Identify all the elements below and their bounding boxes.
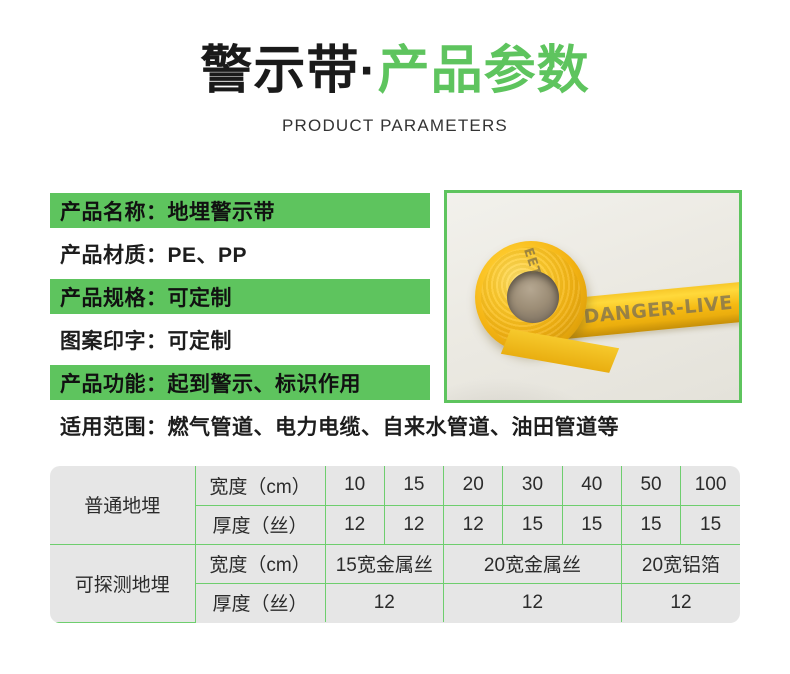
table-cell: 12 xyxy=(384,505,443,544)
table-group-label-normal: 普通地埋 xyxy=(50,466,195,544)
table-cell: 20宽铝箔 xyxy=(621,544,740,583)
table-rowlabel-width-normal: 宽度（cm） xyxy=(195,466,325,505)
table-cell: 12 xyxy=(444,583,622,622)
table-cell: 12 xyxy=(621,583,740,622)
table-cell: 15 xyxy=(681,505,740,544)
table-group-label-detectable: 可探测地埋 xyxy=(50,544,195,622)
table-cell: 100 xyxy=(681,466,740,505)
specification-table-wrapper: 普通地埋 宽度（cm） 10 15 20 30 40 50 100 厚度（丝） … xyxy=(50,466,740,623)
table-row: 普通地埋 宽度（cm） 10 15 20 30 40 50 100 xyxy=(50,466,740,505)
table-cell: 20 xyxy=(444,466,503,505)
table-cell: 40 xyxy=(562,466,621,505)
specification-table: 普通地埋 宽度（cm） 10 15 20 30 40 50 100 厚度（丝） … xyxy=(50,466,740,623)
table-rowlabel-width-detectable: 宽度（cm） xyxy=(195,544,325,583)
spec-row-printing: 图案印字：可定制 xyxy=(50,322,430,357)
table-row: 可探测地埋 宽度（cm） 15宽金属丝 20宽金属丝 20宽铝箔 xyxy=(50,544,740,583)
title-green-part: 产品参数 xyxy=(378,42,590,100)
title-separator-dot: · xyxy=(359,42,377,100)
spec-row-specification: 产品规格：可定制 xyxy=(50,279,430,314)
product-photo: DANGER-LIVE EET xyxy=(444,190,742,403)
table-rowlabel-thickness-detectable: 厚度（丝） xyxy=(195,583,325,622)
product-parameters-page: 警示带·产品参数 PRODUCT PARAMETERS 产品名称：地埋警示带 产… xyxy=(0,0,790,674)
page-title: 警示带·产品参数 xyxy=(0,40,790,102)
spec-row-function: 产品功能：起到警示、标识作用 xyxy=(50,365,430,400)
table-cell: 15 xyxy=(384,466,443,505)
table-cell: 20宽金属丝 xyxy=(444,544,622,583)
table-cell: 12 xyxy=(325,583,444,622)
table-cell: 50 xyxy=(621,466,680,505)
spec-row-product-name: 产品名称：地埋警示带 xyxy=(50,193,430,228)
table-cell: 15 xyxy=(621,505,680,544)
table-cell: 12 xyxy=(325,505,384,544)
table-cell: 10 xyxy=(325,466,384,505)
product-photo-background: DANGER-LIVE EET xyxy=(447,193,739,400)
table-cell: 12 xyxy=(444,505,503,544)
title-black-part: 警示带 xyxy=(200,42,359,100)
tape-roll-core xyxy=(507,271,559,323)
table-cell: 30 xyxy=(503,466,562,505)
page-subtitle: PRODUCT PARAMETERS xyxy=(0,116,790,136)
table-rowlabel-thickness-normal: 厚度（丝） xyxy=(195,505,325,544)
table-cell: 15 xyxy=(562,505,621,544)
page-header: 警示带·产品参数 PRODUCT PARAMETERS xyxy=(0,40,790,136)
table-cell: 15宽金属丝 xyxy=(325,544,444,583)
spec-row-material: 产品材质：PE、PP xyxy=(50,236,430,271)
spec-row-application: 适用范围：燃气管道、电力电缆、自来水管道、油田管道等 xyxy=(50,408,740,443)
table-cell: 15 xyxy=(503,505,562,544)
